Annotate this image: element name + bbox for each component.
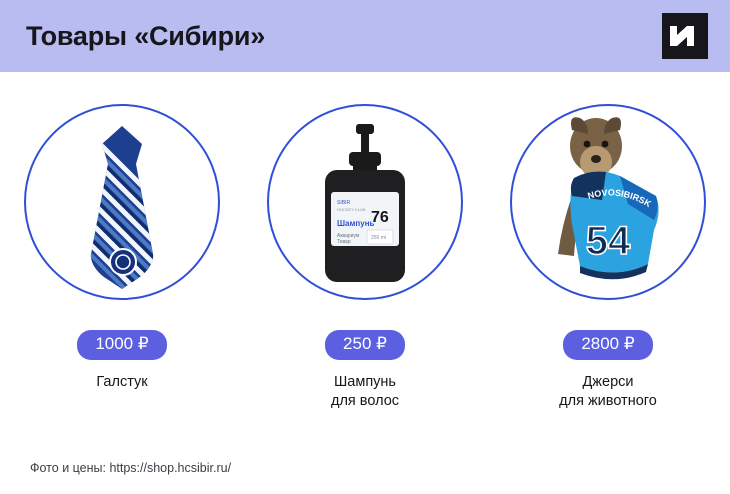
infographic-page: Товары «Сибири» (0, 0, 730, 494)
product-caption: Галстук (96, 373, 147, 393)
product-caption-line-2: для животного (559, 392, 657, 412)
product-circle: SIBIR HOCKEY CLUB Шампунь Аквариум Товар… (267, 104, 463, 300)
svg-text:76: 76 (371, 209, 389, 226)
product-cards: 1000 ₽ Галстук SIBIR (0, 72, 730, 442)
dog-jersey-icon: NOVOSIBIRSK 54 (510, 104, 706, 300)
product-card-tie: 1000 ₽ Галстук (1, 72, 244, 442)
svg-text:Товар: Товар (337, 239, 351, 245)
product-caption-line-1: Шампунь (331, 373, 399, 393)
product-card-shampoo: SIBIR HOCKEY CLUB Шампунь Аквариум Товар… (244, 72, 487, 442)
product-circle: NOVOSIBIRSK 54 (510, 104, 706, 300)
svg-text:250 ml: 250 ml (371, 235, 386, 241)
product-caption-line-2: для волос (331, 392, 399, 412)
product-circle (24, 104, 220, 300)
price-badge: 2800 ₽ (563, 330, 652, 360)
product-caption-line-1: Джерси (559, 373, 657, 393)
footer: Фото и цены: https://shop.hcsibir.ru/ (0, 442, 730, 494)
source-note: Фото и цены: https://shop.hcsibir.ru/ (30, 461, 231, 475)
product-caption: Джерси для животного (559, 373, 657, 412)
nh-logo (662, 13, 708, 59)
header-bar: Товары «Сибири» (0, 0, 730, 72)
source-url[interactable]: https://shop.hcsibir.ru/ (109, 461, 231, 475)
svg-text:54: 54 (586, 219, 631, 263)
product-card-jersey: NOVOSIBIRSK 54 2800 ₽ Джерси для животно… (487, 72, 730, 442)
price-badge: 1000 ₽ (77, 330, 166, 360)
shampoo-bottle-icon: SIBIR HOCKEY CLUB Шампунь Аквариум Товар… (267, 104, 463, 300)
svg-text:SIBIR: SIBIR (337, 200, 350, 206)
page-title: Товары «Сибири» (26, 23, 265, 50)
source-prefix: Фото и цены: (30, 461, 109, 475)
price-badge: 250 ₽ (325, 330, 405, 360)
product-caption: Шампунь для волос (331, 373, 399, 412)
svg-text:HOCKEY CLUB: HOCKEY CLUB (337, 207, 366, 212)
necktie-icon (24, 104, 220, 300)
svg-text:Шампунь: Шампунь (337, 219, 375, 228)
